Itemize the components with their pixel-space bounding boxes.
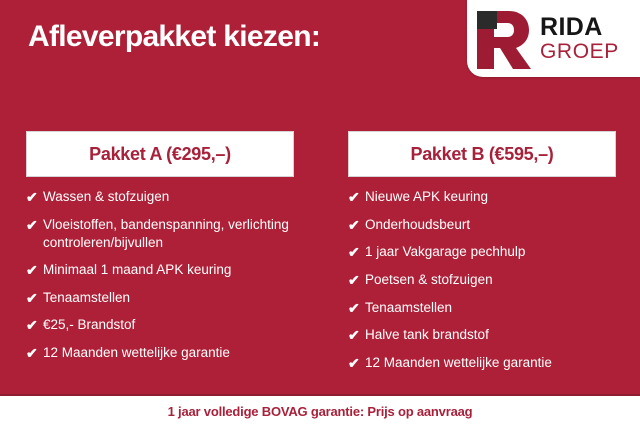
list-item-label: Halve tank brandstof <box>365 326 616 344</box>
check-icon: ✔ <box>348 188 365 207</box>
package-column-b: Pakket B (€595,–) ✔ Nieuwe APK keuring ✔… <box>348 100 616 382</box>
check-icon: ✔ <box>26 216 43 235</box>
check-icon: ✔ <box>348 326 365 345</box>
package-a-header[interactable]: Pakket A (€295,–) <box>26 131 294 177</box>
footer-text: 1 jaar volledige BOVAG garantie: Prijs o… <box>168 404 473 419</box>
package-b-header[interactable]: Pakket B (€595,–) <box>348 131 616 177</box>
banner-header: Afleverpakket kiezen: RIDA GROEP <box>0 0 640 100</box>
check-icon: ✔ <box>348 299 365 318</box>
afleverpakket-banner: Afleverpakket kiezen: RIDA GROEP Pakket … <box>0 0 640 426</box>
list-item: ✔ Nieuwe APK keuring <box>348 188 616 207</box>
package-columns: Pakket A (€295,–) ✔ Wassen & stofzuigen … <box>0 100 640 390</box>
list-item: ✔ 1 jaar Vakgarage pechhulp <box>348 243 616 262</box>
check-icon: ✔ <box>26 188 43 207</box>
rida-r-monogram-icon <box>475 9 533 71</box>
package-a-feature-list: ✔ Wassen & stofzuigen ✔ Vloeistoffen, ba… <box>26 188 294 363</box>
package-a-heading: Pakket A (€295,–) <box>89 144 231 165</box>
check-icon: ✔ <box>348 271 365 290</box>
check-icon: ✔ <box>348 216 365 235</box>
page-title: Afleverpakket kiezen: <box>28 20 320 54</box>
list-item: ✔ Tenaamstellen <box>26 289 294 308</box>
list-item: ✔ Onderhoudsbeurt <box>348 216 616 235</box>
list-item: ✔ 12 Maanden wettelijke garantie <box>348 354 616 373</box>
list-item-label: Wassen & stofzuigen <box>43 188 294 206</box>
package-b-feature-list: ✔ Nieuwe APK keuring ✔ Onderhoudsbeurt ✔… <box>348 188 616 373</box>
list-item-label: Minimaal 1 maand APK keuring <box>43 261 294 279</box>
list-item-label: 1 jaar Vakgarage pechhulp <box>365 243 616 261</box>
list-item: ✔ 12 Maanden wettelijke garantie <box>26 344 294 363</box>
list-item-label: Tenaamstellen <box>365 299 616 317</box>
list-item: ✔ Wassen & stofzuigen <box>26 188 294 207</box>
list-item: ✔ €25,- Brandstof <box>26 316 294 335</box>
list-item-label: 12 Maanden wettelijke garantie <box>365 354 616 372</box>
check-icon: ✔ <box>26 289 43 308</box>
check-icon: ✔ <box>348 243 365 262</box>
check-icon: ✔ <box>26 316 43 335</box>
list-item-label: Vloeistoffen, bandenspanning, verlichtin… <box>43 216 294 253</box>
list-item-label: Onderhoudsbeurt <box>365 216 616 234</box>
logo-name-secondary: GROEP <box>540 41 619 62</box>
list-item-label: 12 Maanden wettelijke garantie <box>43 344 294 362</box>
check-icon: ✔ <box>26 344 43 363</box>
footer-bar: 1 jaar volledige BOVAG garantie: Prijs o… <box>0 394 640 426</box>
check-icon: ✔ <box>348 354 365 373</box>
list-item-label: Nieuwe APK keuring <box>365 188 616 206</box>
rida-groep-logo[interactable]: RIDA GROEP <box>467 0 640 77</box>
list-item: ✔ Tenaamstellen <box>348 299 616 318</box>
list-item-label: Poetsen & stofzuigen <box>365 271 616 289</box>
list-item: ✔ Vloeistoffen, bandenspanning, verlicht… <box>26 216 294 253</box>
list-item-label: €25,- Brandstof <box>43 316 294 334</box>
logo-name-primary: RIDA <box>540 15 619 40</box>
check-icon: ✔ <box>26 261 43 280</box>
package-b-heading: Pakket B (€595,–) <box>411 144 554 165</box>
list-item: ✔ Halve tank brandstof <box>348 326 616 345</box>
list-item-label: Tenaamstellen <box>43 289 294 307</box>
list-item: ✔ Poetsen & stofzuigen <box>348 271 616 290</box>
package-column-a: Pakket A (€295,–) ✔ Wassen & stofzuigen … <box>26 100 294 372</box>
list-item: ✔ Minimaal 1 maand APK keuring <box>26 261 294 280</box>
